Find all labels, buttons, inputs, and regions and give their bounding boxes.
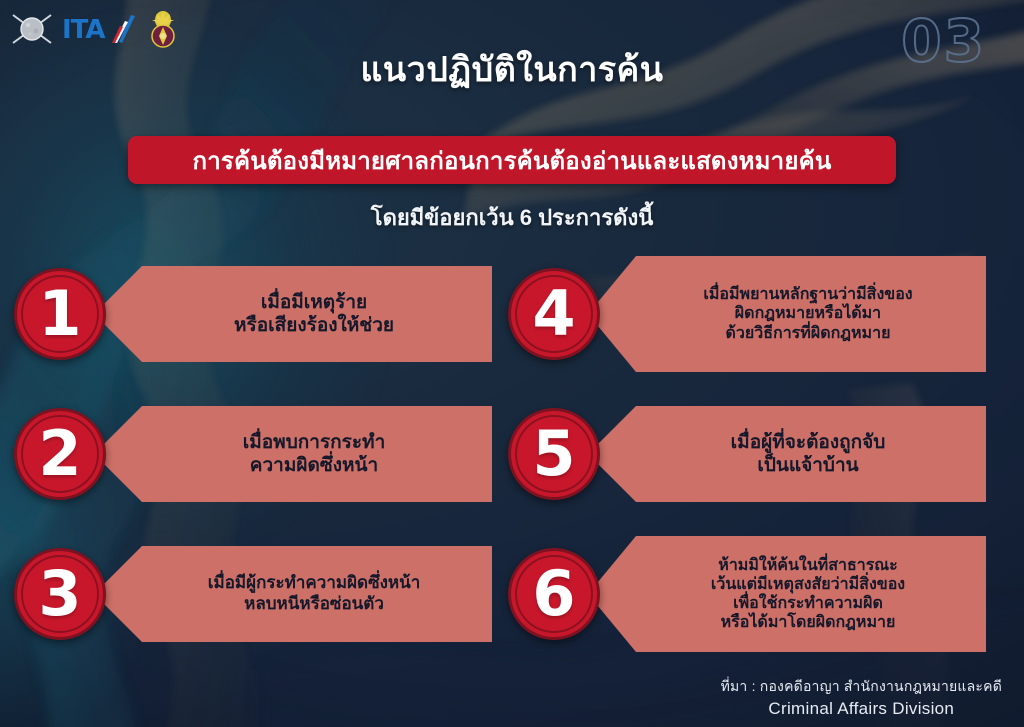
list-item: 2 เมื่อพบการกระทำ ความผิดซึ่งหน้า bbox=[14, 398, 492, 510]
item-text-line: หรือเสียงร้องให้ช่วย bbox=[234, 314, 394, 337]
subtitle: โดยมีข้อยกเว้น 6 ประการดังนี้ bbox=[0, 200, 1024, 235]
item-text-line: เมื่อมีเหตุร้าย bbox=[234, 291, 394, 314]
item-text-line: ห้ามมิให้ค้นในที่สาธารณะ bbox=[711, 556, 905, 575]
item-number-badge: 4 bbox=[508, 268, 600, 360]
item-number-badge: 2 bbox=[14, 408, 106, 500]
item-arrow-panel: เมื่อผู้ที่จะต้องถูกจับ เป็นแจ้าบ้าน bbox=[588, 406, 986, 502]
item-arrow-panel: ห้ามมิให้ค้นในที่สาธารณะ เว้นแต่มีเหตุสง… bbox=[588, 536, 986, 652]
source-attribution: ที่มา : กองคดีอาญา สำนักงานกฎหมายและคดี … bbox=[721, 676, 1002, 719]
source-attribution-thai: ที่มา : กองคดีอาญา สำนักงานกฎหมายและคดี bbox=[721, 676, 1002, 698]
exception-items-grid: 1 เมื่อมีเหตุร้าย หรือเสียงร้องให้ช่วย 2… bbox=[0, 258, 1024, 658]
item-arrow-panel: เมื่อพบการกระทำ ความผิดซึ่งหน้า bbox=[94, 406, 492, 502]
item-arrow-panel: เมื่อมีเหตุร้าย หรือเสียงร้องให้ช่วย bbox=[94, 266, 492, 362]
item-text-block: เมื่อมีผู้กระทำความผิดซึ่งหน้า หลบหนีหรื… bbox=[208, 573, 421, 614]
item-arrow-panel: เมื่อมีพยานหลักฐานว่ามีสิ่งของ ผิดกฎหมาย… bbox=[588, 256, 986, 372]
item-text-block: เมื่อผู้ที่จะต้องถูกจับ เป็นแจ้าบ้าน bbox=[731, 431, 886, 477]
list-item: 6 ห้ามมิให้ค้นในที่สาธารณะ เว้นแต่มีเหตุ… bbox=[508, 538, 986, 650]
item-text-block: เมื่อพบการกระทำ ความผิดซึ่งหน้า bbox=[243, 431, 386, 477]
svg-text:ITA: ITA bbox=[62, 15, 105, 45]
item-text-line: เพื่อใช้กระทำความผิด bbox=[711, 594, 905, 613]
slide-canvas: ITA 03 แนวปฏิบัติในการค้น การค้นต้องมีหม… bbox=[0, 0, 1024, 727]
item-text-line: เมื่อผู้ที่จะต้องถูกจับ bbox=[731, 431, 886, 454]
column-right: 4 เมื่อมีพยานหลักฐานว่ามีสิ่งของ ผิดกฎหม… bbox=[508, 258, 1008, 658]
headline-banner: การค้นต้องมีหมายศาลก่อนการค้นต้องอ่านและ… bbox=[128, 136, 896, 184]
item-number-badge: 6 bbox=[508, 548, 600, 640]
item-text-block: เมื่อมีเหตุร้าย หรือเสียงร้องให้ช่วย bbox=[234, 291, 394, 337]
headline-banner-text: การค้นต้องมีหมายศาลก่อนการค้นต้องอ่านและ… bbox=[193, 141, 832, 180]
item-arrow-panel: เมื่อมีผู้กระทำความผิดซึ่งหน้า หลบหนีหรื… bbox=[94, 546, 492, 642]
item-text-line: ด้วยวิธีการที่ผิดกฎหมาย bbox=[703, 324, 912, 343]
item-text-line: เมื่อพบการกระทำ bbox=[243, 431, 386, 454]
item-number: 3 bbox=[38, 563, 81, 625]
item-text-line: หรือได้มาโดยผิดกฎหมาย bbox=[711, 613, 905, 632]
list-item: 1 เมื่อมีเหตุร้าย หรือเสียงร้องให้ช่วย bbox=[14, 258, 492, 370]
page-title: แนวปฏิบัติในการค้น bbox=[0, 42, 1024, 96]
item-number: 4 bbox=[532, 283, 575, 345]
column-left: 1 เมื่อมีเหตุร้าย หรือเสียงร้องให้ช่วย 2… bbox=[14, 258, 514, 658]
item-text-block: เมื่อมีพยานหลักฐานว่ามีสิ่งของ ผิดกฎหมาย… bbox=[703, 285, 912, 343]
item-text-line: หลบหนีหรือซ่อนตัว bbox=[208, 594, 421, 615]
item-number: 2 bbox=[38, 423, 81, 485]
item-number-badge: 3 bbox=[14, 548, 106, 640]
item-text-block: ห้ามมิให้ค้นในที่สาธารณะ เว้นแต่มีเหตุสง… bbox=[711, 556, 905, 633]
item-text-line: เป็นแจ้าบ้าน bbox=[731, 454, 886, 477]
item-text-line: เมื่อมีพยานหลักฐานว่ามีสิ่งของ bbox=[703, 285, 912, 304]
item-text-line: ความผิดซึ่งหน้า bbox=[243, 454, 386, 477]
list-item: 5 เมื่อผู้ที่จะต้องถูกจับ เป็นแจ้าบ้าน bbox=[508, 398, 986, 510]
item-number: 5 bbox=[532, 423, 575, 485]
item-number-badge: 5 bbox=[508, 408, 600, 500]
item-text-line: เมื่อมีผู้กระทำความผิดซึ่งหน้า bbox=[208, 573, 421, 594]
list-item: 4 เมื่อมีพยานหลักฐานว่ามีสิ่งของ ผิดกฎหม… bbox=[508, 258, 986, 370]
ita-wordmark-logo-icon: ITA bbox=[62, 12, 140, 46]
item-number: 1 bbox=[38, 283, 81, 345]
item-text-line: ผิดกฎหมายหรือได้มา bbox=[703, 304, 912, 323]
item-number: 6 bbox=[532, 563, 575, 625]
item-number-badge: 1 bbox=[14, 268, 106, 360]
source-attribution-english: Criminal Affairs Division bbox=[721, 699, 1002, 719]
list-item: 3 เมื่อมีผู้กระทำความผิดซึ่งหน้า หลบหนีห… bbox=[14, 538, 492, 650]
item-text-line: เว้นแต่มีเหตุสงสัยว่ามีสิ่งของ bbox=[711, 575, 905, 594]
